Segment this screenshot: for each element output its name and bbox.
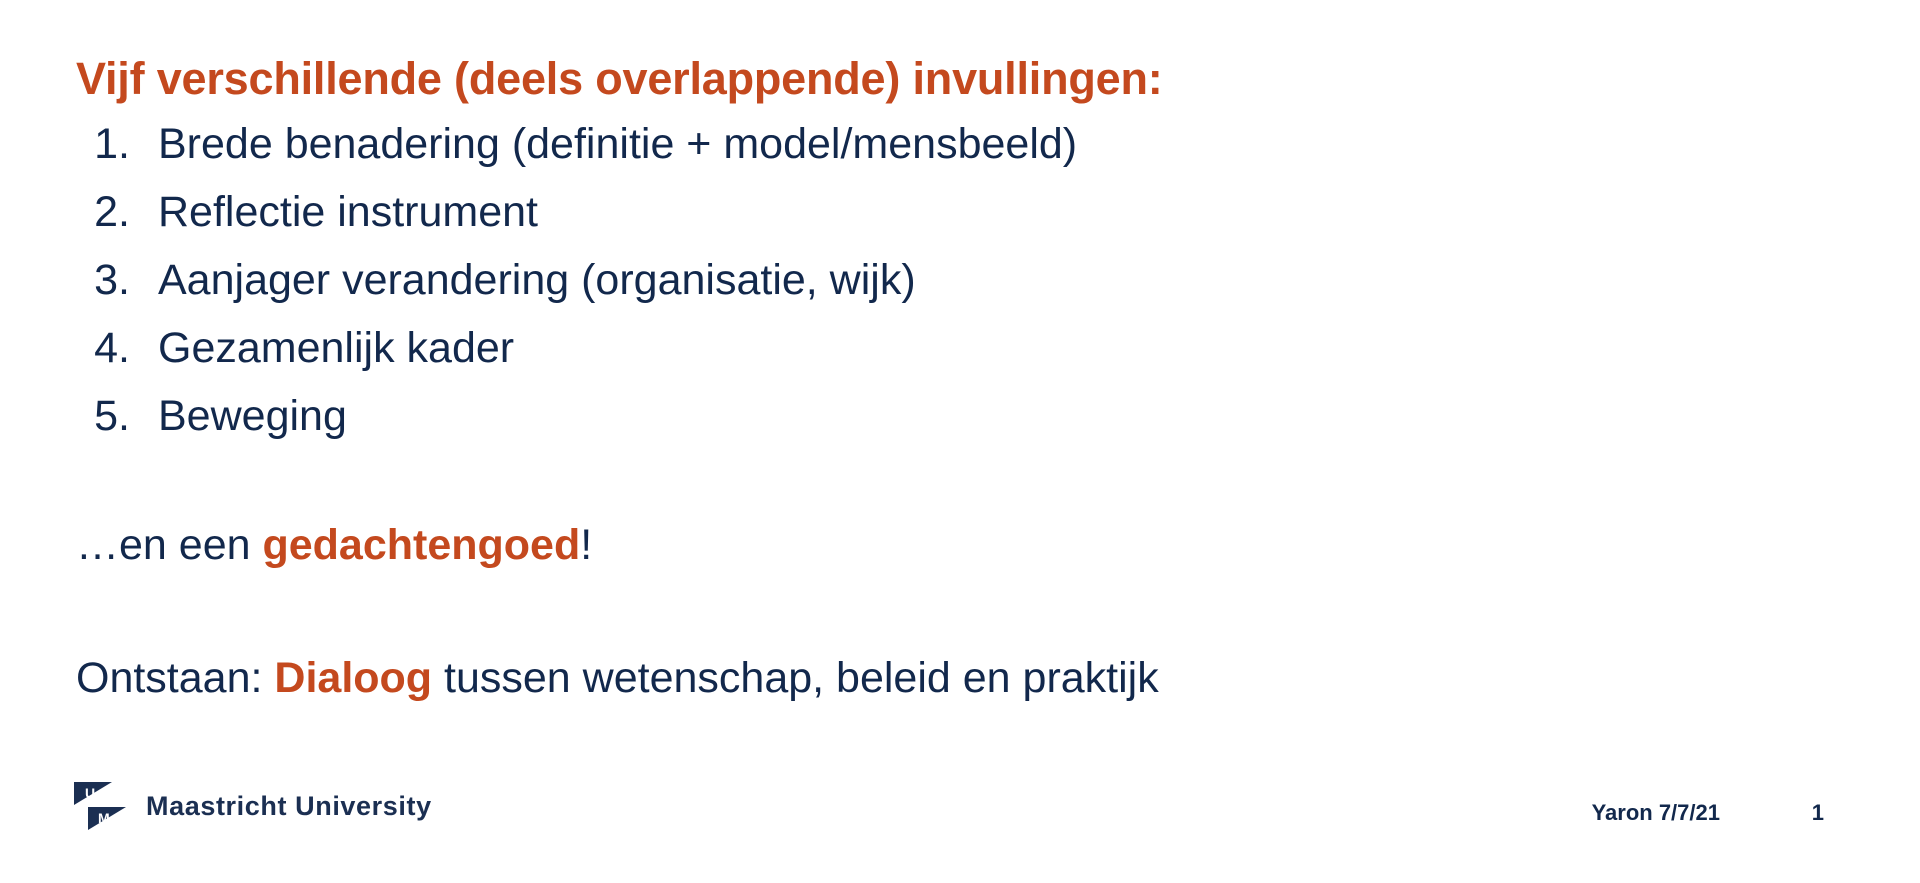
paragraph-gedachtengoed-prefix: …en een bbox=[76, 521, 262, 569]
list-item-marker: 5. bbox=[76, 392, 130, 441]
list-item-label: Beweging bbox=[158, 392, 347, 441]
footer-author-date: Yaron 7/7/21 bbox=[1592, 800, 1720, 826]
list-item-marker: 3. bbox=[76, 256, 130, 305]
paragraph-ontstaan-prefix: Ontstaan: bbox=[76, 654, 274, 702]
list-item: 2. Reflectie instrument bbox=[76, 188, 1077, 256]
list-item-label: Reflectie instrument bbox=[158, 188, 538, 237]
list-item-label: Brede benadering (definitie + model/mens… bbox=[158, 120, 1077, 169]
list-item: 5. Beweging bbox=[76, 392, 1077, 460]
slide-canvas: Vijf verschillende (deels overlappende) … bbox=[0, 0, 1920, 883]
list-item-marker: 1. bbox=[76, 120, 130, 169]
list-item-label: Aanjager verandering (organisatie, wijk) bbox=[158, 256, 916, 305]
paragraph-gedachtengoed-suffix: ! bbox=[580, 521, 592, 569]
paragraph-ontstaan-highlight: Dialoog bbox=[274, 654, 432, 702]
logo-wordmark: Maastricht University bbox=[146, 791, 432, 822]
list-item-label: Gezamenlijk kader bbox=[158, 324, 514, 373]
svg-text:U: U bbox=[85, 785, 95, 801]
list-item: 4. Gezamenlijk kader bbox=[76, 324, 1077, 392]
numbered-list: 1. Brede benadering (definitie + model/m… bbox=[76, 120, 1077, 460]
list-item: 1. Brede benadering (definitie + model/m… bbox=[76, 120, 1077, 188]
svg-text:M: M bbox=[98, 810, 110, 826]
list-item: 3. Aanjager verandering (organisatie, wi… bbox=[76, 256, 1077, 324]
page-title: Vijf verschillende (deels overlappende) … bbox=[76, 53, 1163, 105]
paragraph-gedachtengoed-highlight: gedachtengoed bbox=[262, 521, 580, 569]
footer-page-number: 1 bbox=[1812, 800, 1824, 826]
list-item-marker: 2. bbox=[76, 188, 130, 237]
list-item-marker: 4. bbox=[76, 324, 130, 373]
paragraph-ontstaan-suffix: tussen wetenschap, beleid en praktijk bbox=[432, 654, 1159, 702]
paragraph-ontstaan: Ontstaan: Dialoog tussen wetenschap, bel… bbox=[76, 654, 1159, 703]
um-pennant-icon: U M bbox=[72, 778, 130, 834]
maastricht-university-logo: U M Maastricht University bbox=[72, 778, 432, 834]
paragraph-gedachtengoed: …en een gedachtengoed! bbox=[76, 521, 592, 570]
